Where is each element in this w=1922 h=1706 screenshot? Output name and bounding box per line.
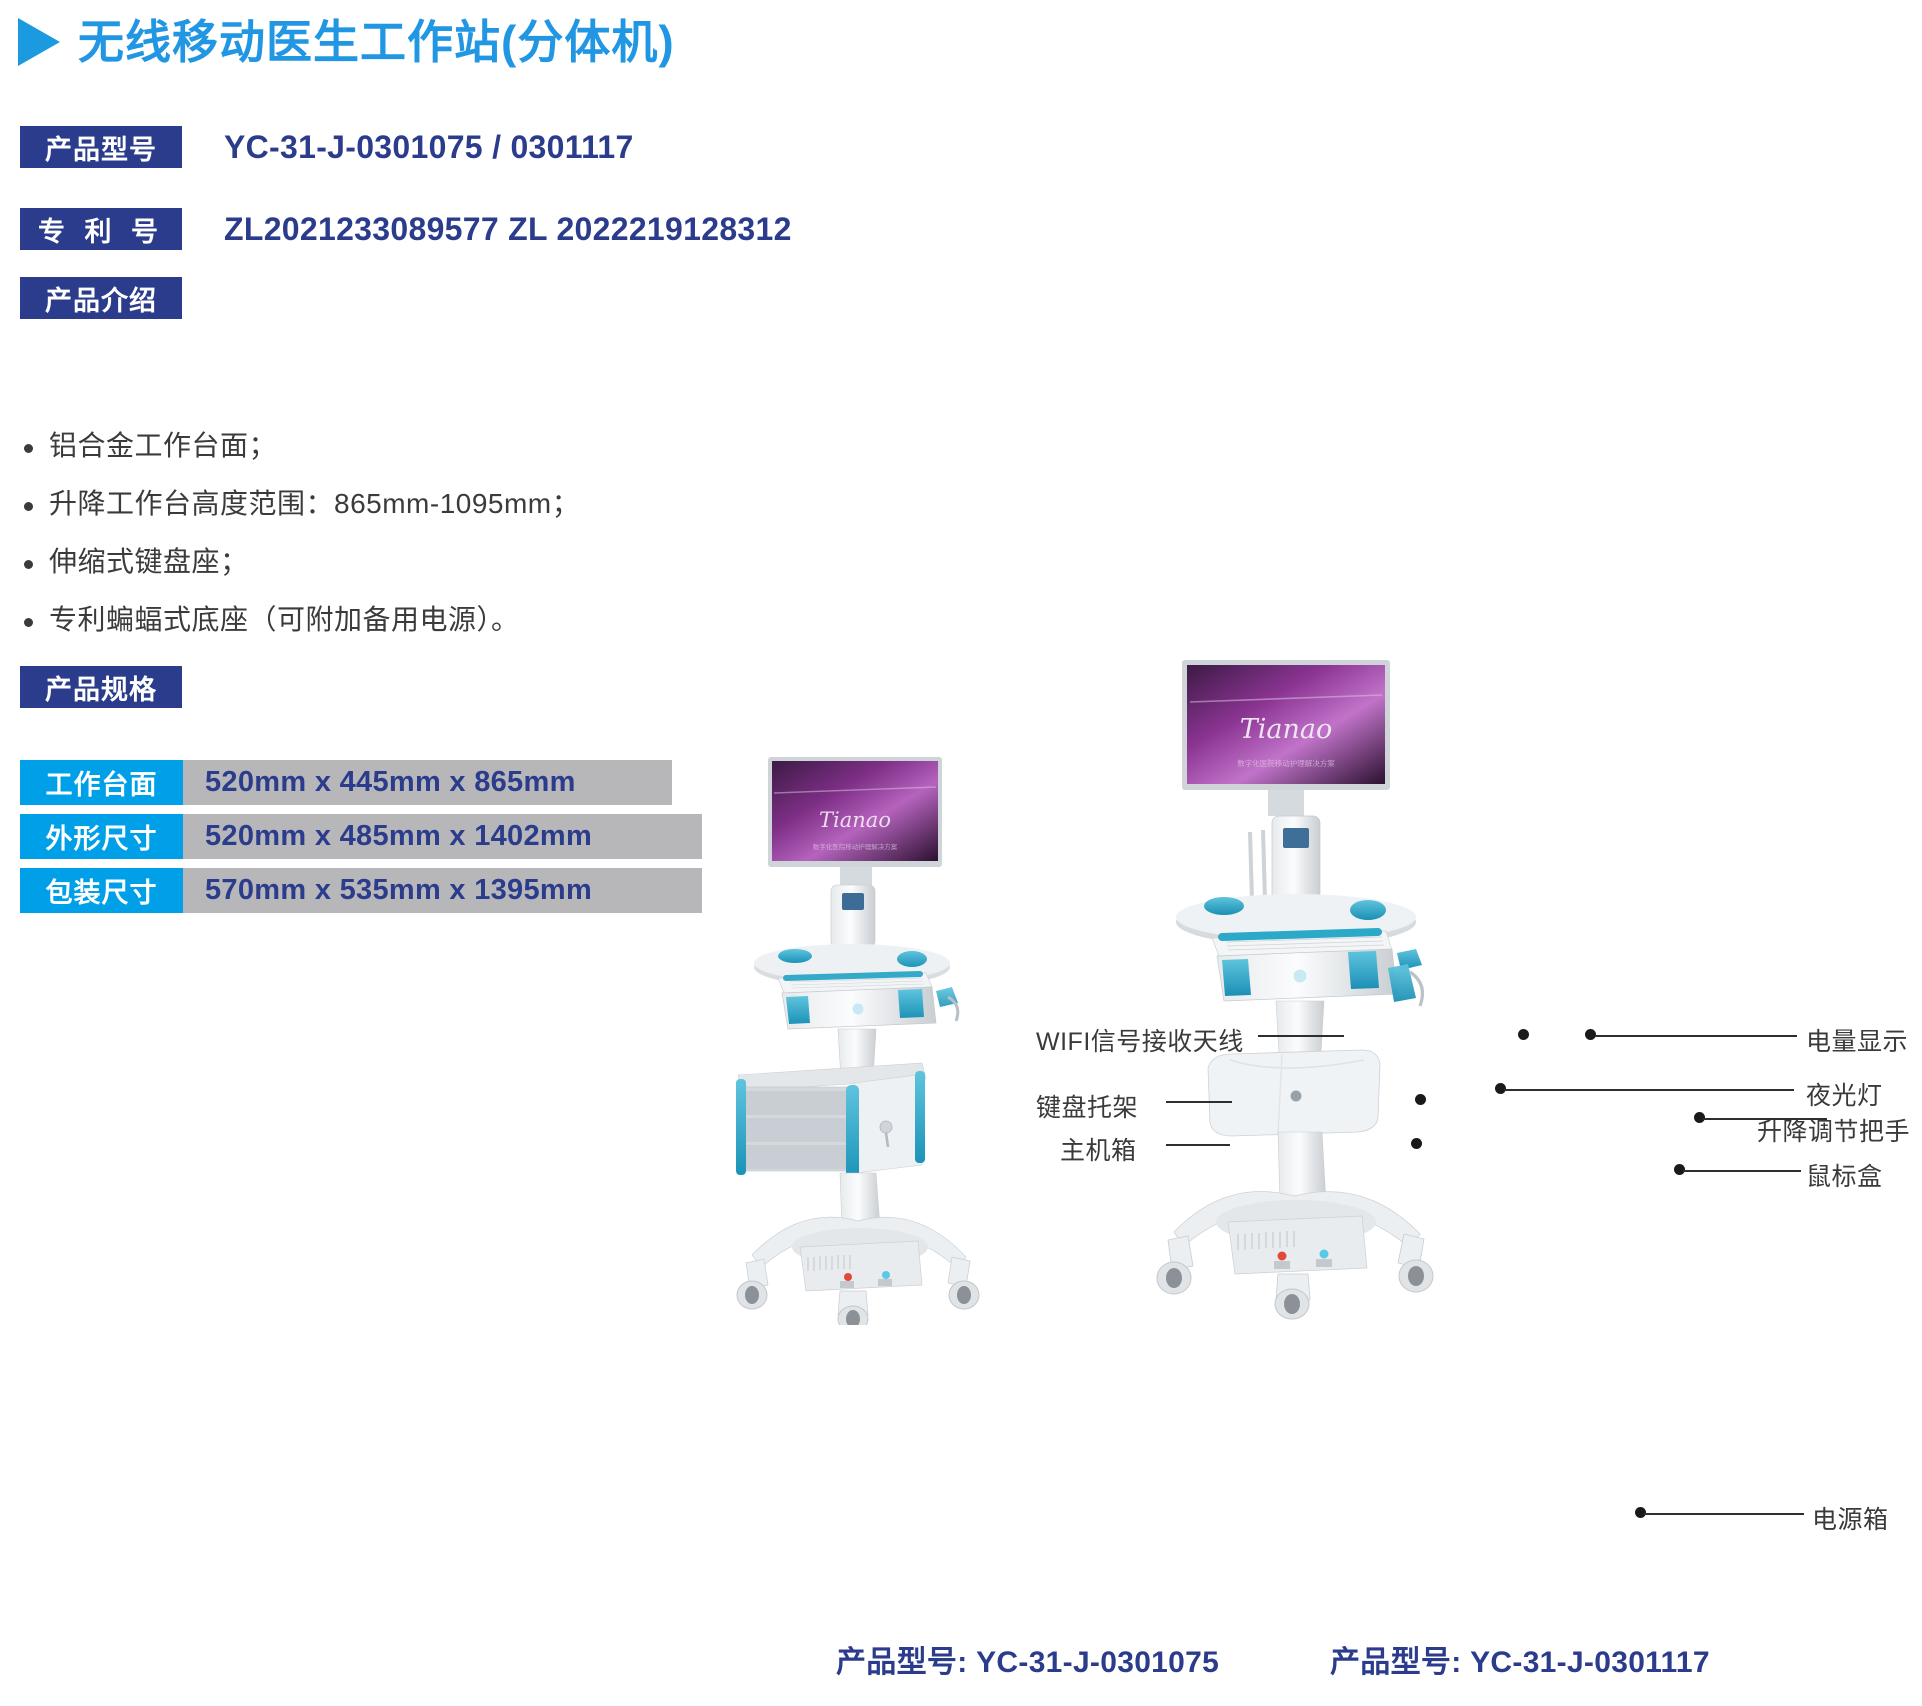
callout-lift-handle: 升降调节把手 — [1757, 1112, 1910, 1148]
svg-text:数字化医院移动护理解决方案: 数字化医院移动护理解决方案 — [813, 842, 898, 851]
bullet-dot-icon — [24, 502, 33, 511]
table-cell-value: 520mm x 485mm x 1402mm — [183, 814, 702, 859]
list-item-label: 专利蝙蝠式底座（可附加备用电源）。 — [49, 606, 520, 634]
info-row-model: 产品型号 YC-31-J-0301075 / 0301117 — [20, 126, 634, 168]
list-item: 伸缩式键盘座； — [20, 548, 580, 576]
bullet-dot-icon — [24, 560, 33, 569]
callout-dot — [1518, 1029, 1529, 1040]
svg-text:Tianao: Tianao — [1240, 714, 1332, 745]
callout-night-light: 夜光灯 — [1806, 1076, 1883, 1112]
callout-leader-line — [1504, 1089, 1794, 1091]
product-catalog-page: 无线移动医生工作站(分体机) 产品型号 YC-31-J-0301075 / 03… — [0, 0, 1922, 1706]
page-title-text: 无线移动医生工作站(分体机) — [78, 19, 675, 65]
info-label-patent: 专 利 号 — [20, 208, 182, 250]
table-cell-key: 工作台面 — [20, 760, 183, 805]
workstation-cart-basket-illustration: Tianao 数字化医院移动护理解决方案 — [1100, 650, 1520, 1330]
list-item-label: 铝合金工作台面； — [49, 432, 277, 460]
callout-battery-display: 电量显示 — [1806, 1022, 1908, 1058]
product-caption-left: 产品型号: YC-31-J-0301075 — [836, 1637, 1219, 1681]
callout-keyboard-tray: 键盘托架 — [1036, 1088, 1138, 1124]
callout-dot — [1411, 1138, 1422, 1149]
callout-leader-line — [1166, 1144, 1230, 1146]
play-triangle-icon — [18, 18, 60, 66]
table-row: 外形尺寸 520mm x 485mm x 1402mm — [20, 814, 702, 859]
list-item-label: 升降工作台高度范围：865mm-1095mm； — [49, 490, 580, 518]
product-caption-right: 产品型号: YC-31-J-0301117 — [1330, 1637, 1710, 1681]
callout-dot — [1415, 1094, 1426, 1105]
list-item: 专利蝙蝠式底座（可附加备用电源）。 — [20, 606, 580, 634]
table-cell-value: 520mm x 445mm x 865mm — [183, 760, 672, 805]
list-item-label: 伸缩式键盘座； — [49, 548, 249, 576]
list-item: 铝合金工作台面； — [20, 432, 580, 460]
svg-text:数字化医院移动护理解决方案: 数字化医院移动护理解决方案 — [1237, 758, 1335, 768]
table-row: 包装尺寸 570mm x 535mm x 1395mm — [20, 868, 702, 913]
table-row: 工作台面 520mm x 445mm x 865mm — [20, 760, 702, 805]
section-header-spec: 产品规格 — [20, 666, 182, 708]
callout-power-box: 电源箱 — [1812, 1500, 1889, 1536]
info-label-model: 产品型号 — [20, 126, 182, 168]
intro-bullet-list: 铝合金工作台面； 升降工作台高度范围：865mm-1095mm； 伸缩式键盘座；… — [20, 432, 580, 664]
svg-text:Tianao: Tianao — [819, 808, 891, 832]
spec-table: 工作台面 520mm x 445mm x 865mm 外形尺寸 520mm x … — [20, 760, 702, 922]
callout-leader-line — [1683, 1170, 1801, 1172]
callout-leader-line — [1258, 1035, 1344, 1037]
bullet-dot-icon — [24, 444, 33, 453]
callout-wifi-antenna: WIFI信号接收天线 — [1036, 1022, 1244, 1058]
callout-mouse-box: 鼠标盒 — [1806, 1157, 1883, 1193]
page-title: 无线移动医生工作站(分体机) — [18, 18, 675, 66]
product-image-left: Tianao 数字化医院移动护理解决方案 — [690, 735, 1020, 1325]
list-item: 升降工作台高度范围：865mm-1095mm； — [20, 490, 580, 518]
workstation-cart-drawers-illustration: Tianao 数字化医院移动护理解决方案 — [690, 735, 1020, 1325]
product-image-right: Tianao 数字化医院移动护理解决方案 — [1100, 650, 1520, 1330]
table-cell-key: 外形尺寸 — [20, 814, 183, 859]
table-cell-value: 570mm x 535mm x 1395mm — [183, 868, 702, 913]
table-cell-key: 包装尺寸 — [20, 868, 183, 913]
callout-leader-line — [1644, 1513, 1804, 1515]
section-header-intro: 产品介绍 — [20, 277, 182, 319]
info-row-patent: 专 利 号 ZL2021233089577 ZL 2022219128312 — [20, 208, 792, 250]
callout-leader-line — [1166, 1101, 1232, 1103]
callout-leader-line — [1595, 1035, 1797, 1037]
callout-host-box: 主机箱 — [1060, 1131, 1137, 1167]
info-value-model: YC-31-J-0301075 / 0301117 — [224, 129, 634, 166]
bullet-dot-icon — [24, 618, 33, 627]
info-value-patent: ZL2021233089577 ZL 2022219128312 — [224, 211, 792, 248]
